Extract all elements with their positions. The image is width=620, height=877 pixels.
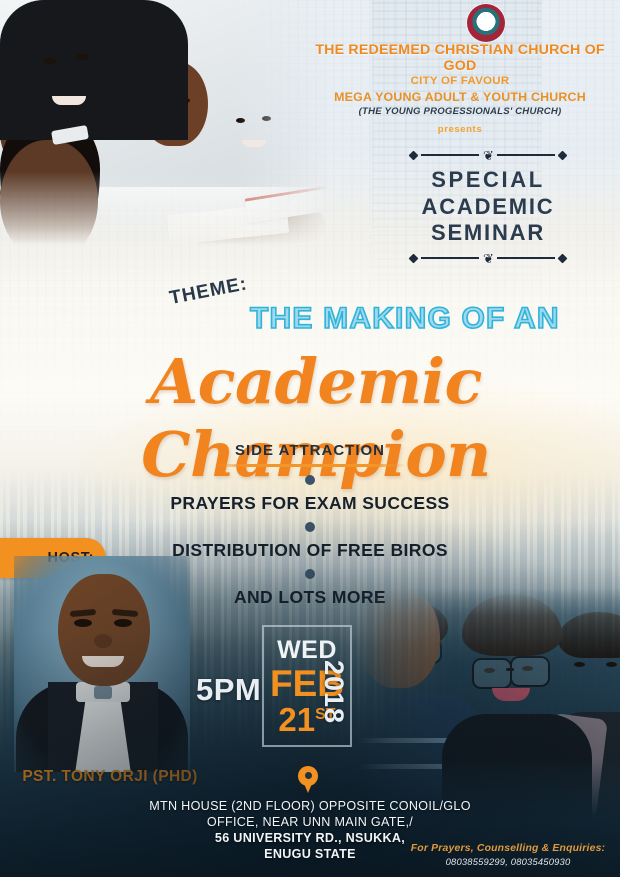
event-time: 5PM	[196, 672, 261, 708]
seminar-title-line1: SPECIAL	[370, 167, 606, 193]
pastor-eye-left	[74, 619, 92, 627]
event-year: 2018	[318, 660, 349, 724]
youth-eye-left	[574, 662, 585, 667]
student-front-left	[0, 0, 188, 245]
church-branch: MEGA YOUNG ADULT & YOUTH CHURCH	[300, 90, 620, 104]
youth-eye-right	[606, 662, 617, 667]
divider-bar-left	[421, 154, 479, 156]
flourish-center-icon: ❦	[483, 252, 493, 265]
student-eye-right	[76, 54, 88, 60]
presents-label: presents	[300, 124, 620, 135]
diamond-right-icon	[558, 253, 568, 263]
contact-heading: For Prayers, Counselling & Enquiries:	[400, 843, 616, 854]
bullet-dot-icon	[305, 522, 315, 532]
ornament-divider-icon: ❦	[370, 148, 606, 162]
contact-block: For Prayers, Counselling & Enquiries: 08…	[400, 843, 616, 867]
bullet-dot-icon	[305, 475, 315, 485]
student-eye-right	[262, 116, 271, 121]
flourish-center-icon: ❦	[483, 149, 493, 162]
pastor-mouth	[82, 656, 124, 667]
host-name: PST. TONY ORJI (PHD)	[10, 768, 210, 786]
address-line-2: OFFICE, NEAR UNN MAIN GATE,/	[120, 814, 500, 830]
address-line-1: MTN HOUSE (2ND FLOOR) OPPOSITE CONOIL/GL…	[120, 798, 500, 814]
pastor-portrait-photo	[14, 556, 190, 772]
side-attraction-item: PRAYERS FOR EXAM SUCCESS	[130, 493, 490, 514]
seminar-flyer: THE REDEEMED CHRISTIAN CHURCH OF GOD CIT…	[0, 0, 620, 877]
student-torso	[0, 0, 188, 140]
young-people-group-photo	[358, 588, 620, 818]
church-tagline: (THE YOUNG PROGESSIONALS' CHURCH)	[300, 106, 620, 117]
youth-head	[358, 588, 440, 688]
student-eye-left	[44, 58, 56, 64]
divider-bar-right	[497, 154, 555, 156]
seminar-title-block: ❦ SPECIAL ACADEMIC SEMINAR ❦	[370, 148, 606, 265]
glasses-bridge-icon	[506, 668, 514, 671]
divider-bar-left	[421, 257, 479, 259]
diamond-left-icon	[409, 150, 419, 160]
glasses-icon	[510, 656, 550, 687]
student-eye-left	[236, 118, 245, 123]
student-mouth	[242, 140, 266, 147]
glasses-icon	[472, 658, 512, 689]
youth-center	[358, 588, 440, 688]
student-mouth	[52, 96, 86, 105]
ornament-divider-bottom-icon: ❦	[370, 251, 606, 265]
rccg-dove-logo-icon	[467, 4, 505, 42]
map-pin-icon	[298, 766, 318, 793]
dove-glyph	[478, 16, 495, 29]
students-studying-photo	[0, 0, 330, 245]
seminar-title-line2: ACADEMIC SEMINAR	[370, 194, 606, 246]
side-attraction-underline	[214, 464, 406, 467]
contact-phone-numbers: 08038559299, 08035450930	[400, 856, 616, 867]
event-day-number: 21	[278, 701, 315, 738]
church-parish: CITY OF FAVOUR	[300, 75, 620, 87]
student-head	[0, 140, 98, 245]
side-attraction-title: SIDE ATTRACTION	[130, 442, 490, 459]
pastor-nose	[94, 634, 112, 648]
clerical-tab-icon	[94, 686, 112, 699]
pin-tip	[302, 779, 314, 793]
pin-hole	[305, 772, 312, 779]
divider-bar-right	[497, 257, 555, 259]
church-name: THE REDEEMED CHRISTIAN CHURCH OF GOD	[300, 42, 620, 74]
pastor-head	[58, 574, 150, 686]
theme-line-1: THE MAKING OF AN	[250, 302, 600, 336]
bullet-dot-icon	[305, 569, 315, 579]
diamond-right-icon	[558, 150, 568, 160]
church-identity-block: THE REDEEMED CHRISTIAN CHURCH OF GOD CIT…	[300, 42, 620, 135]
diamond-left-icon	[409, 253, 419, 263]
pastor-eye-right	[114, 619, 132, 627]
